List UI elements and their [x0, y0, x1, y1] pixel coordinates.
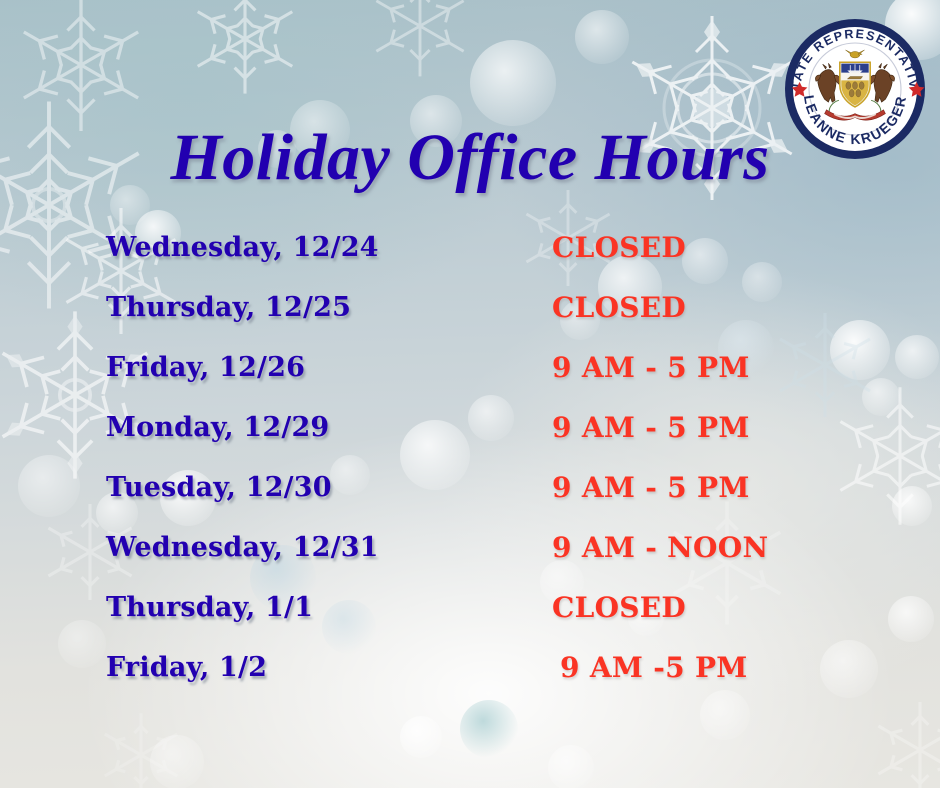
state-representative-seal: STATE REPRESENTATIVE LEANNE KRUEGER — [780, 17, 930, 161]
schedule-hours-value: 9 AM - 5 PM — [552, 398, 750, 458]
schedule-hours-value: CLOSED — [552, 218, 686, 278]
schedule-day-label: Friday, 1/2 — [106, 638, 267, 698]
schedule-row: Tuesday, 12/30 9 AM - 5 PM — [0, 458, 940, 518]
schedule-row: Thursday, 12/25 CLOSED — [0, 278, 940, 338]
schedule-hours-value: 9 AM - NOON — [552, 518, 768, 578]
schedule-row: Friday, 12/26 9 AM - 5 PM — [0, 338, 940, 398]
bokeh-circle — [460, 700, 518, 758]
schedule-day-label: Monday, 12/29 — [106, 398, 329, 458]
bokeh-circle — [400, 716, 442, 758]
snowflake-icon — [360, 0, 480, 86]
snowflake-icon — [6, 0, 156, 140]
schedule-day-label: Thursday, 12/25 — [106, 278, 351, 338]
schedule-hours-value: CLOSED — [552, 278, 686, 338]
snowflake-icon — [180, 0, 310, 104]
snowflake-icon — [860, 690, 940, 788]
bokeh-circle — [575, 10, 629, 64]
bokeh-circle — [150, 735, 204, 788]
snowflake-icon — [86, 700, 196, 788]
schedule-row: Wednesday, 12/24 CLOSED — [0, 218, 940, 278]
schedule-row: Monday, 12/29 9 AM - 5 PM — [0, 398, 940, 458]
schedule-hours-value: 9 AM - 5 PM — [552, 338, 750, 398]
schedule-day-label: Wednesday, 12/31 — [106, 518, 379, 578]
holiday-office-hours-poster: Holiday Office Hours Wednesday, 12/24 CL… — [0, 0, 940, 788]
schedule-hours-value: CLOSED — [552, 578, 686, 638]
schedule-row: Thursday, 1/1 CLOSED — [0, 578, 940, 638]
schedule-day-label: Friday, 12/26 — [106, 338, 305, 398]
schedule-hours-value: 9 AM -5 PM — [560, 638, 748, 698]
bokeh-circle — [470, 40, 556, 126]
bokeh-circle — [548, 745, 594, 788]
schedule-row: Friday, 1/2 9 AM -5 PM — [0, 638, 940, 698]
office-hours-list: Wednesday, 12/24 CLOSED Thursday, 12/25 … — [0, 218, 940, 698]
schedule-day-label: Thursday, 1/1 — [106, 578, 313, 638]
schedule-row: Wednesday, 12/31 9 AM - NOON — [0, 518, 940, 578]
schedule-day-label: Tuesday, 12/30 — [106, 458, 332, 518]
schedule-day-label: Wednesday, 12/24 — [106, 218, 379, 278]
schedule-hours-value: 9 AM - 5 PM — [552, 458, 750, 518]
